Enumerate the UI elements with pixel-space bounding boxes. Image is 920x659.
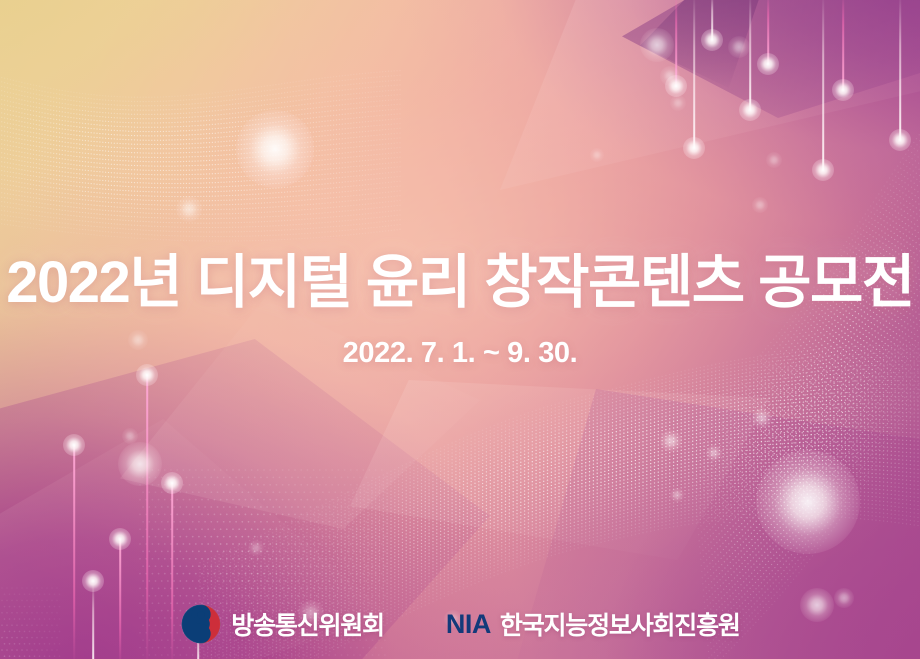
polygon-top-right-sheen xyxy=(500,0,920,190)
glow-particle xyxy=(756,450,860,554)
glow-particle xyxy=(706,445,722,461)
glow-particle xyxy=(660,430,682,452)
glow-particle xyxy=(176,196,202,222)
event-date-range: 2022. 7. 1. ~ 9. 30. xyxy=(0,337,920,370)
poster-canvas: 2022년 디지털 윤리 창작콘텐츠 공모전 2022. 7. 1. ~ 9. … xyxy=(0,0,920,659)
logo-nia-label: 한국지능정보사회진흥원 xyxy=(500,606,740,642)
glow-particle xyxy=(122,428,138,444)
glow-particle xyxy=(752,197,768,213)
glow-particle xyxy=(728,36,750,58)
glow-particle xyxy=(640,28,674,62)
page-title: 2022년 디지털 윤리 창작콘텐츠 공모전 xyxy=(0,252,920,315)
glow-particle xyxy=(236,110,314,188)
logo-kcc-label: 방송통신위원회 xyxy=(231,606,384,642)
glow-particle xyxy=(766,152,782,168)
glow-particle xyxy=(752,408,772,428)
glow-particle xyxy=(670,95,686,111)
logo-nia: NIA 한국지능정보사회진흥원 xyxy=(446,606,740,642)
poster-text-block: 2022년 디지털 윤리 창작콘텐츠 공모전 2022. 7. 1. ~ 9. … xyxy=(0,252,920,370)
glow-particle xyxy=(660,66,680,86)
polygon-top-right-dark xyxy=(622,0,920,118)
logo-kcc: 방송통신위원회 xyxy=(180,603,384,645)
footer-logos: 방송통신위원회 NIA 한국지능정보사회진흥원 xyxy=(0,603,920,645)
glow-particle xyxy=(670,488,684,502)
korea-government-taegeuk-icon xyxy=(180,603,222,645)
glow-particle xyxy=(118,442,162,486)
polygon-top-right-small xyxy=(640,0,760,88)
polygon-mid-sheen xyxy=(350,380,770,560)
glow-particle xyxy=(248,540,264,556)
glow-particle xyxy=(590,148,604,162)
nia-wordmark: NIA xyxy=(446,609,491,640)
